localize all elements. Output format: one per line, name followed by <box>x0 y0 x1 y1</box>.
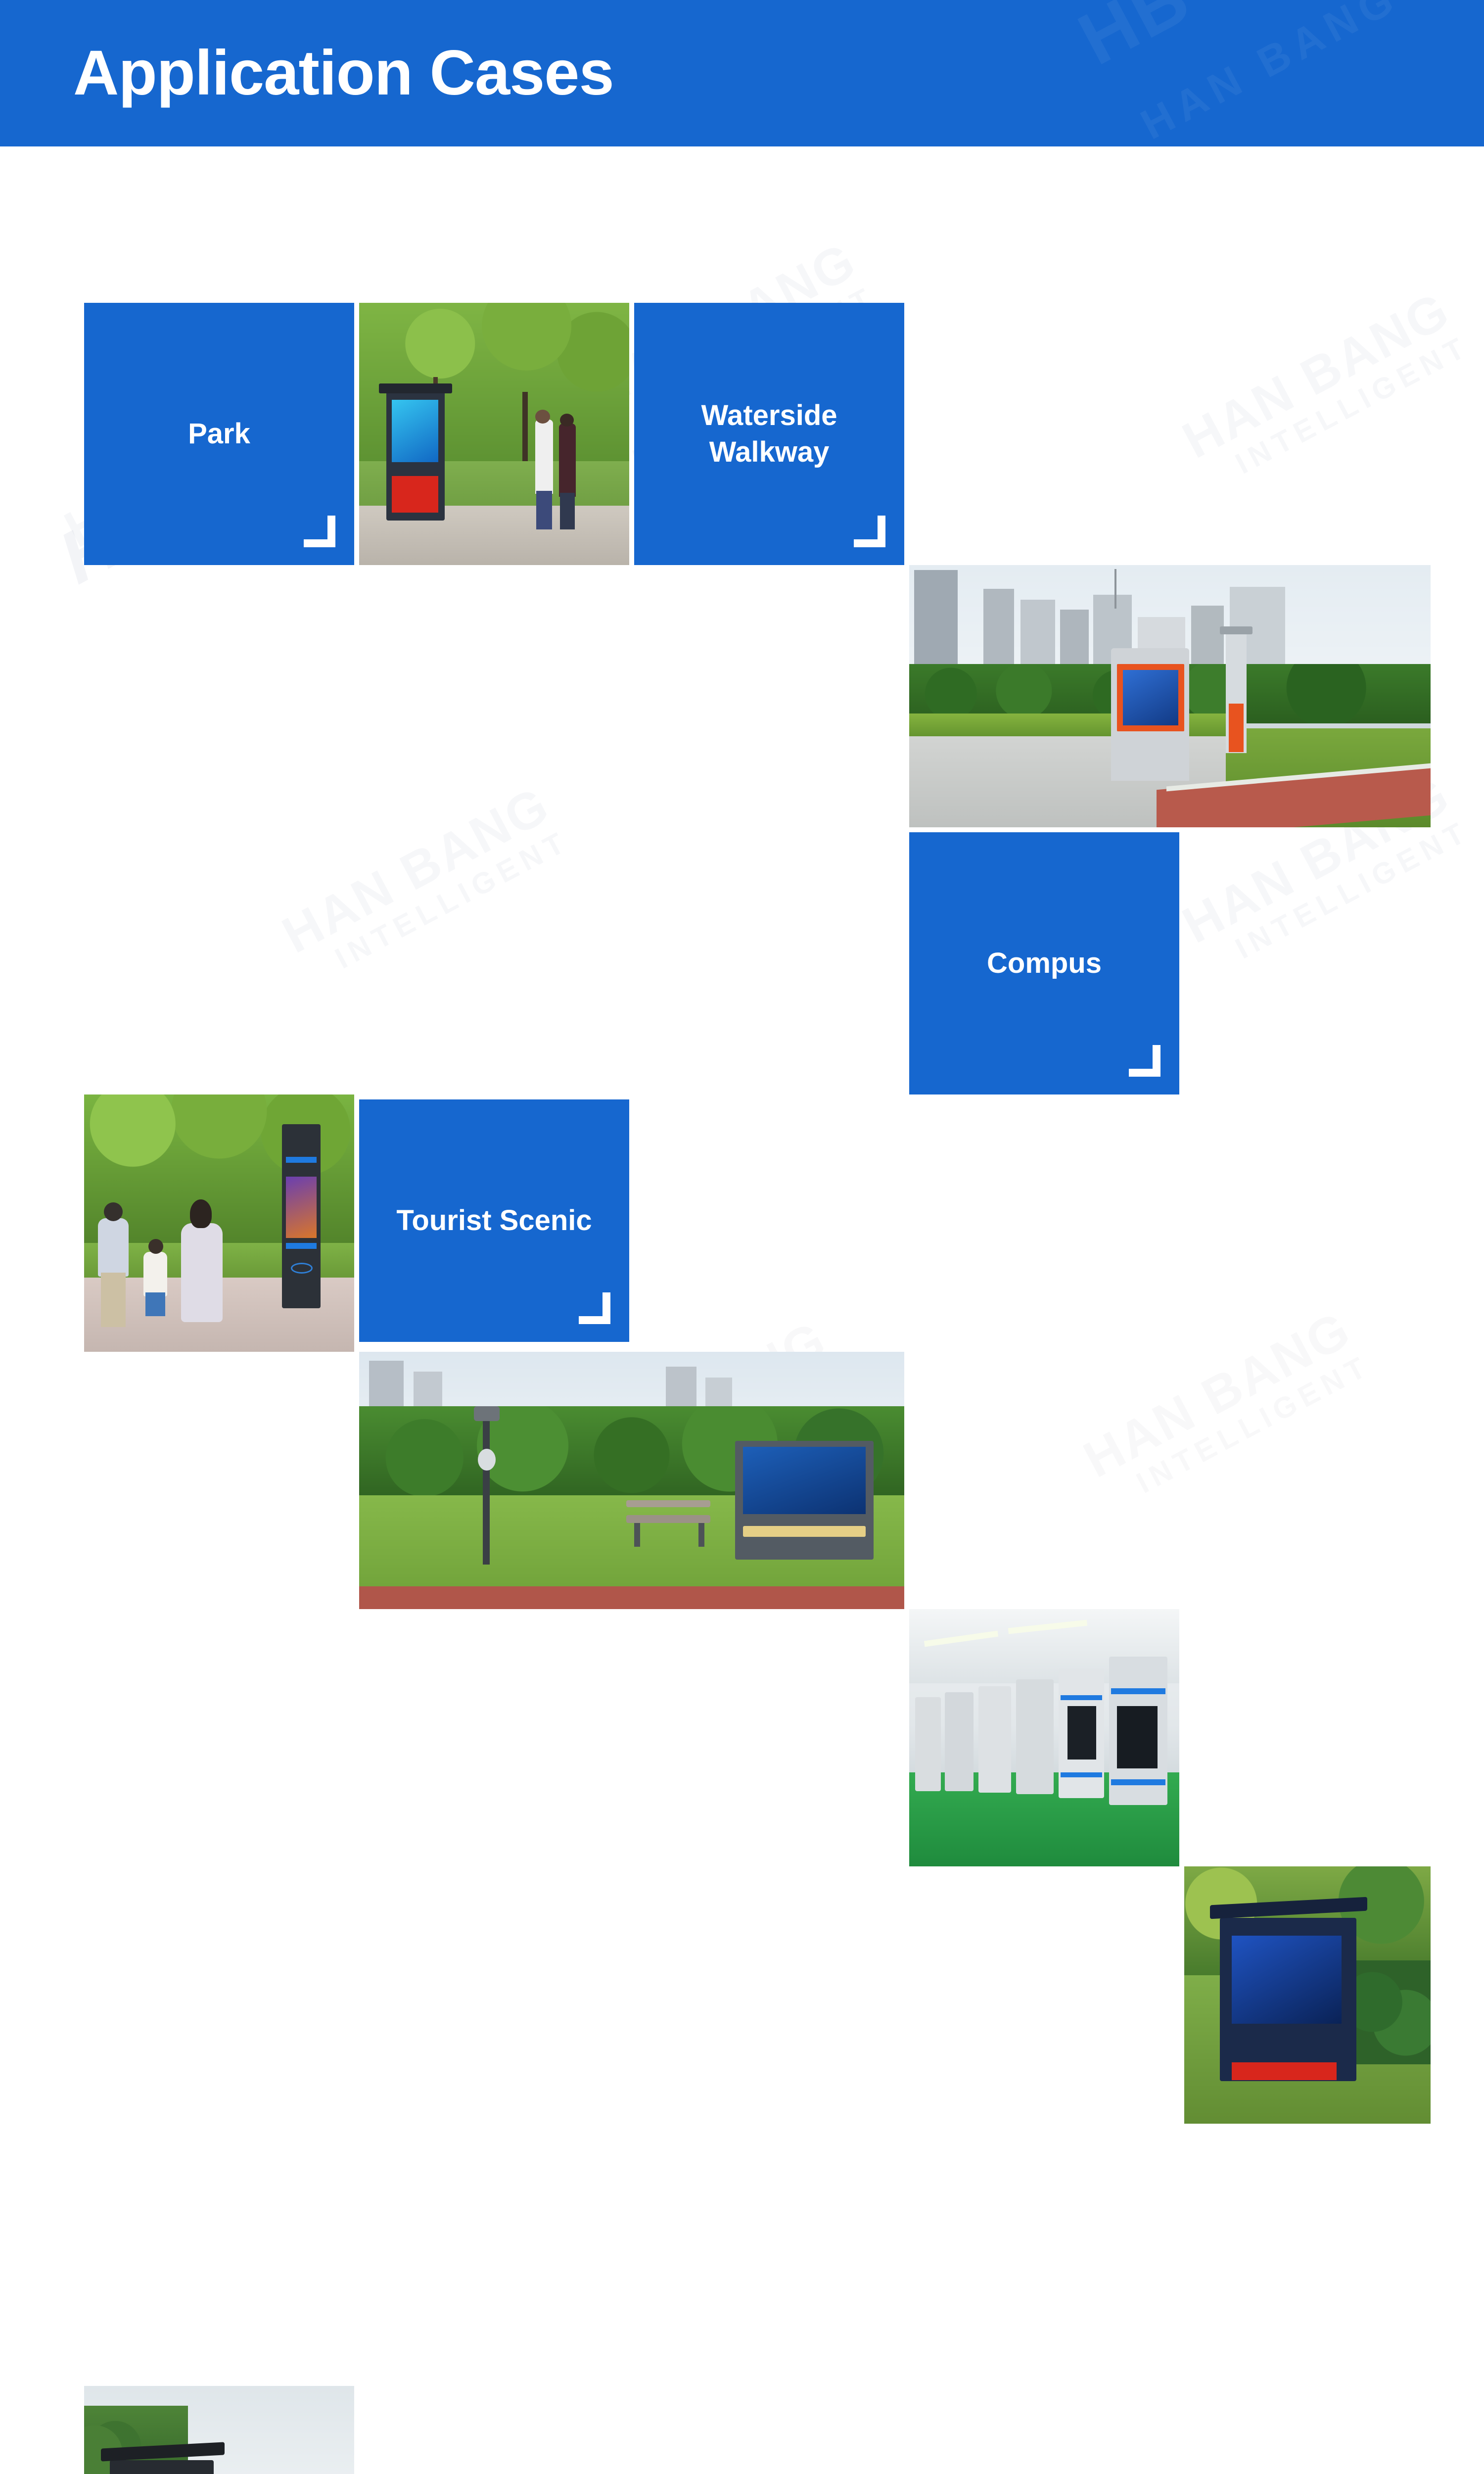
gallery-photo-lakeside-kiosk[interactable] <box>84 2386 354 2474</box>
corner-bracket-icon <box>579 1292 610 1324</box>
gallery-photo-lawn-kiosk-bench[interactable] <box>359 1352 904 1609</box>
gallery-label-tile-tourist-scenic[interactable]: Tourist Scenic <box>359 1099 629 1342</box>
gallery-photo-urban-plaza-kiosk[interactable] <box>909 565 1431 827</box>
application-cases-gallery: Park Waterside Walkway <box>84 303 1431 1342</box>
corner-bracket-icon <box>1129 1045 1160 1077</box>
corner-bracket-icon <box>304 516 335 547</box>
watermark-line-2: INTELLIGENT <box>1131 1349 1375 1499</box>
tile-label: Compus <box>978 945 1111 982</box>
gallery-label-tile-waterside-walkway[interactable]: Waterside Walkway <box>634 303 904 565</box>
header-watermark-text: HAN BANG <box>1134 0 1405 146</box>
gallery-label-tile-compus[interactable]: Compus <box>909 832 1179 1094</box>
tile-label: Waterside Walkway <box>634 397 904 471</box>
gallery-photo-park-kiosk-couple[interactable] <box>359 303 629 565</box>
tile-label: Park <box>179 416 259 452</box>
tile-label: Tourist Scenic <box>387 1202 601 1239</box>
gallery-photo-family-walking[interactable] <box>84 1094 354 1352</box>
gallery-photo-navy-dashboard-kiosk[interactable] <box>1184 1866 1431 2124</box>
gallery-photo-factory-kiosk-row[interactable] <box>909 1609 1179 1866</box>
corner-bracket-icon <box>854 516 885 547</box>
header-watermark-logo: HB <box>1067 0 1202 77</box>
page-title: Application Cases <box>73 42 614 105</box>
page-header: HB HAN BANG Application Cases <box>0 0 1484 146</box>
gallery-label-tile-park[interactable]: Park <box>84 303 354 565</box>
